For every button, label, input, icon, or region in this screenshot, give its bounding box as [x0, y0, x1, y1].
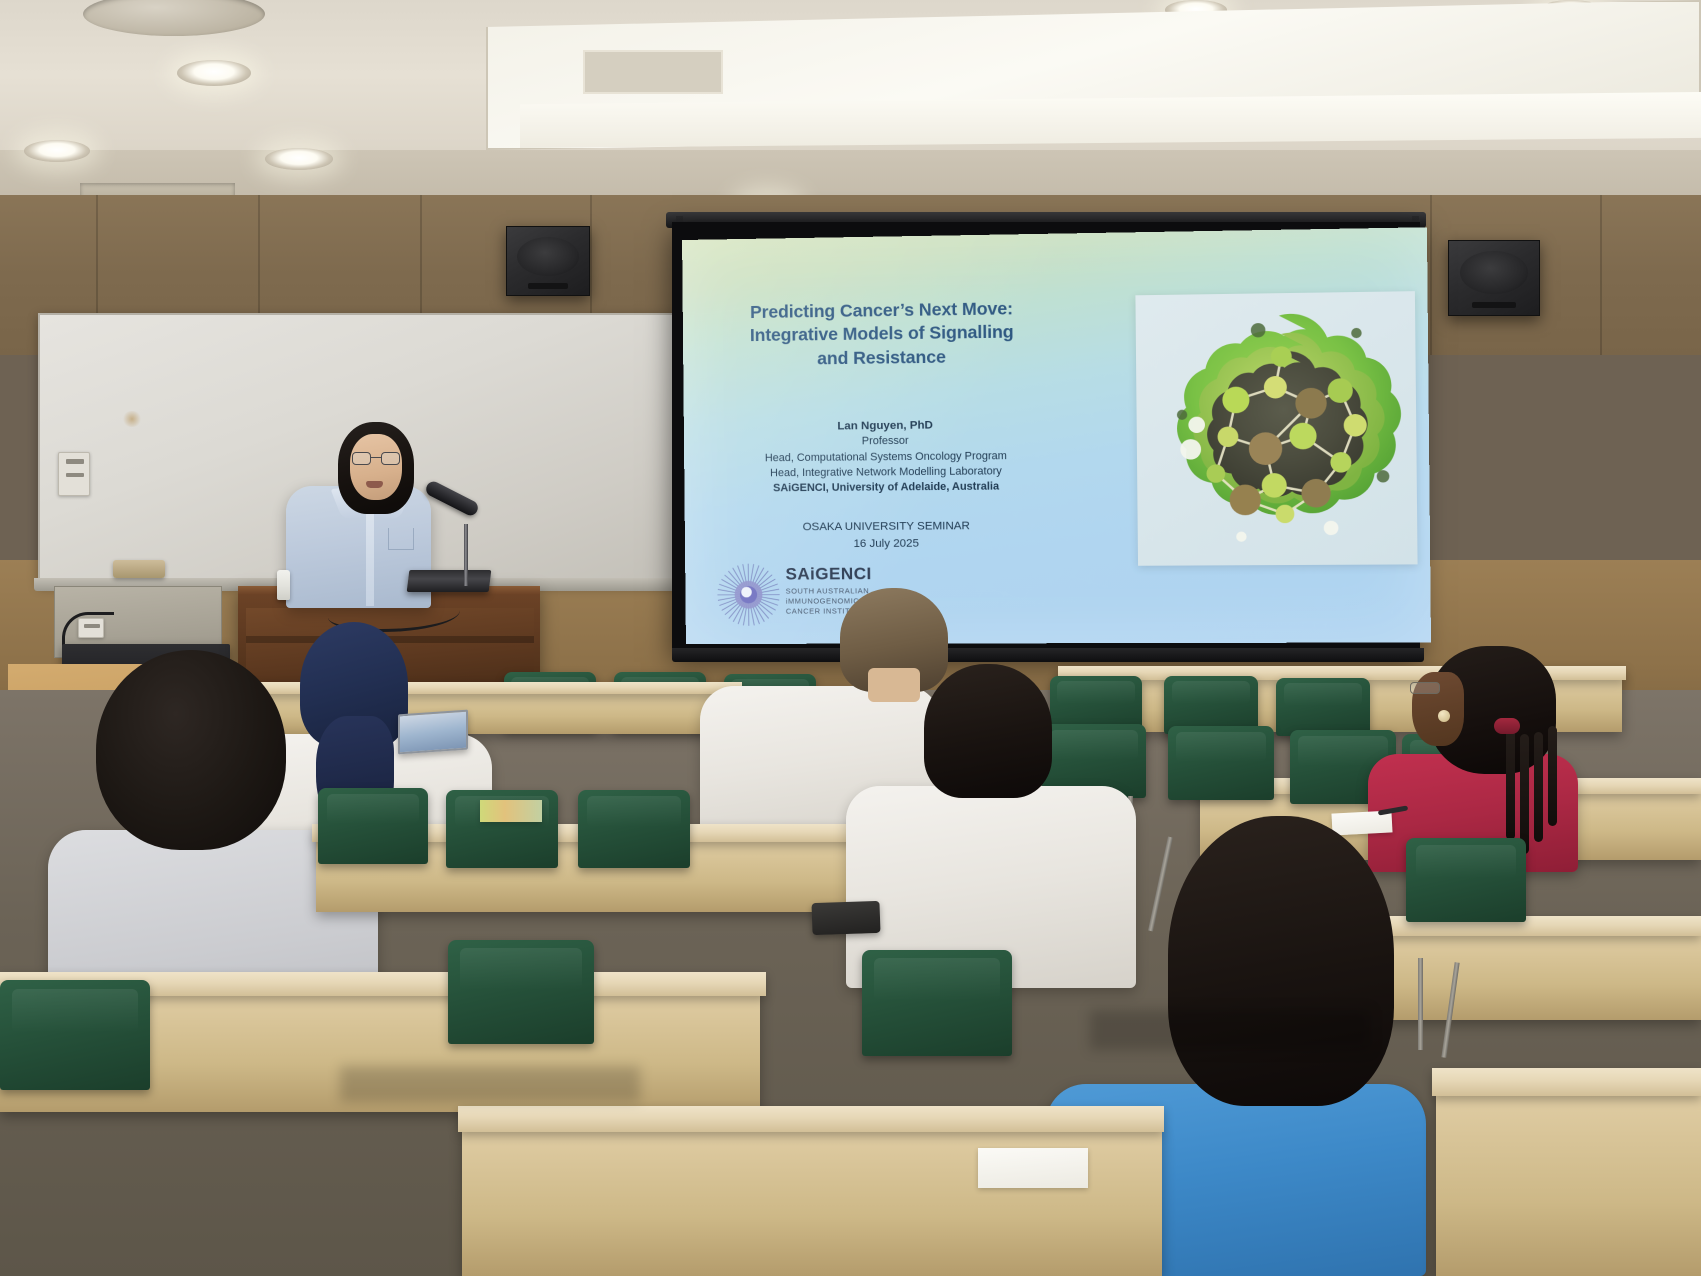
slide-title-line-3: and Resistance: [705, 344, 1060, 372]
wall-outlet-plate: [58, 452, 90, 496]
desk-row-front-right: [1436, 1092, 1701, 1276]
braid-strand: [1548, 726, 1557, 826]
attendee-hair: [1168, 816, 1394, 1106]
wall-speaker-left: [506, 226, 590, 296]
presentation-slide: Predicting Cancer’s Next Move: Integrati…: [682, 227, 1431, 644]
chair: [1276, 678, 1370, 736]
hair-tie: [1494, 718, 1520, 734]
chair: [578, 790, 690, 868]
presenter-face: [350, 434, 402, 500]
logo-name: SAiGENCI: [785, 565, 871, 582]
desk-row-front-center-top: [458, 1106, 1164, 1132]
lecture-hall-photo: Predicting Cancer’s Next Move: Integrati…: [0, 0, 1701, 1276]
slide-event-block: OSAKA UNIVERSITY SEMINAR 16 July 2025: [699, 517, 1076, 553]
slide-title-line-2: Integrative Models of Signalling: [705, 320, 1060, 348]
chair: [0, 980, 150, 1090]
chair: [862, 950, 1012, 1056]
braid-strand: [1520, 734, 1529, 854]
whiteboard-eraser: [113, 560, 165, 578]
molecular-network-artwork: [1135, 291, 1417, 566]
water-bottle: [277, 570, 290, 600]
braid-strand: [1506, 728, 1515, 840]
attendee-hair: [96, 650, 286, 850]
projection-screen-bottom-bar: [672, 648, 1424, 662]
wall-speaker-right: [1448, 240, 1540, 316]
presenter-shirt-placket: [366, 506, 374, 606]
braid-strand: [1534, 732, 1543, 842]
console-wall-plate: [78, 618, 104, 638]
logo-sub-line-1: SOUTH AUSTRALIAN: [786, 586, 872, 596]
colourful-handout: [480, 800, 542, 822]
chair: [1406, 838, 1526, 922]
presenter-shirt-pocket: [388, 528, 414, 550]
desk-row-front-right-top: [1432, 1068, 1701, 1096]
microphone-stand: [464, 524, 468, 586]
molecule-graphic-icon: [1135, 291, 1417, 566]
attendee-hair: [924, 664, 1052, 798]
eyeglasses-icon: [352, 452, 400, 465]
chair: [1168, 726, 1274, 800]
affiliation-line-3: SAiGENCI, University of Adelaide, Austra…: [698, 479, 1075, 497]
eyeglasses-icon: [1410, 682, 1440, 694]
recessed-downlight: [265, 148, 333, 170]
presenter-mouth: [366, 481, 383, 488]
event-date: 16 July 2025: [699, 534, 1076, 553]
attendee-neck: [868, 668, 920, 702]
attendee-laptop: [398, 710, 468, 755]
chair: [448, 940, 594, 1044]
slide-title: Predicting Cancer’s Next Move: Integrati…: [705, 296, 1060, 371]
chair-leg: [1418, 958, 1423, 1050]
pencil-pouch: [811, 901, 880, 935]
recessed-downlight: [177, 60, 251, 86]
presenter-laptop: [407, 570, 492, 592]
recessed-downlight: [24, 140, 90, 162]
chair: [318, 788, 428, 864]
handout-sheet: [978, 1148, 1088, 1188]
slide-presenter-block: Lan Nguyen, PhD Professor Head, Computat…: [698, 416, 1076, 497]
earring-icon: [1438, 710, 1450, 722]
sunburst-logo-icon: [715, 562, 782, 628]
